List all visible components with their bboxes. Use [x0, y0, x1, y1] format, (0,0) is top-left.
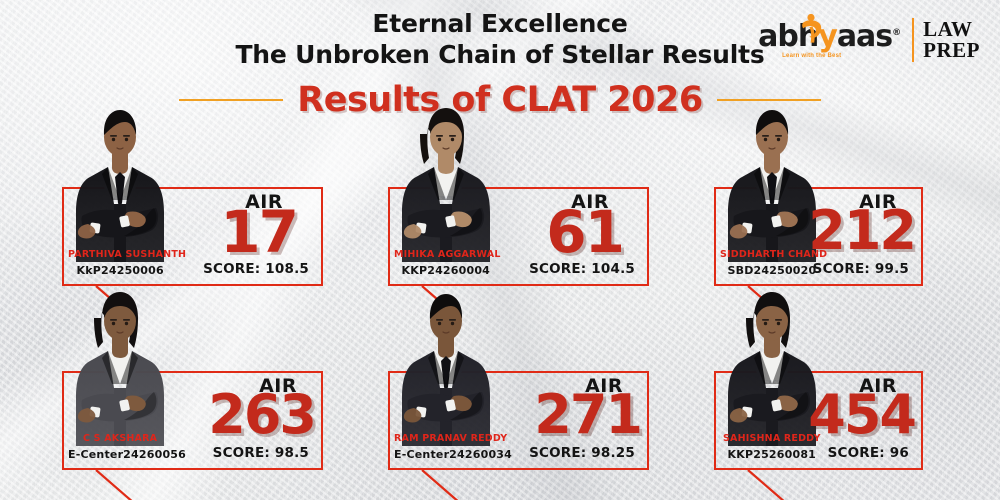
air-rank-value: 263: [208, 393, 315, 437]
student-name: MIHIKA AGGARWAL: [394, 249, 501, 260]
student-score: SCORE: 96: [828, 445, 909, 461]
student-score: SCORE: 104.5: [529, 261, 635, 277]
heading-line-1: Eternal Excellence: [0, 8, 1000, 39]
student-score: SCORE: 108.5: [203, 261, 309, 277]
result-card-tail-icon: [420, 286, 466, 322]
student-score: SCORE: 98.25: [529, 445, 635, 461]
air-rank-value: 271: [534, 393, 641, 437]
result-card-tail-icon: [746, 286, 792, 322]
student-id: KKP24260004: [402, 264, 491, 277]
title-rule-right: [717, 99, 821, 101]
page-title: Results of CLAT 2026: [297, 80, 702, 120]
air-rank-value: 61: [546, 209, 623, 257]
student-id: SBD24250020: [728, 264, 817, 277]
student-id: KKP25260081: [728, 448, 817, 461]
student-name: RAM PRANAV REDDY: [394, 433, 507, 444]
result-card[interactable]: AIR 61 MIHIKA AGGARWAL KKP24260004 SCORE…: [388, 187, 649, 286]
result-card[interactable]: AIR 454 SAHISHNA REDDY KKP25260081 SCORE…: [714, 371, 923, 470]
result-card[interactable]: AIR 17 PARTHIVA SUSHANTH KkP24250006 SCO…: [62, 187, 323, 286]
student-name: PARTHIVA SUSHANTH: [68, 249, 186, 260]
result-card-tail-icon: [94, 470, 140, 500]
student-name: SAHISHNA REDDY: [723, 433, 821, 444]
student-name: C S AKSHARA: [83, 433, 157, 444]
result-card[interactable]: AIR 271 RAM PRANAV REDDY E-Center2426003…: [388, 371, 649, 470]
student-score: SCORE: 99.5: [813, 261, 909, 277]
result-card-tail-icon: [94, 286, 140, 322]
result-card[interactable]: AIR 263 C S AKSHARA E-Center24260056 SCO…: [62, 371, 323, 470]
air-rank-value: 454: [808, 393, 915, 437]
result-card-tail-icon: [746, 470, 792, 500]
student-id: KkP24250006: [77, 264, 164, 277]
student-id: E-Center24260034: [394, 448, 512, 461]
student-id: E-Center24260056: [68, 448, 186, 461]
title-rule-left: [179, 99, 283, 101]
main-title-row: Results of CLAT 2026: [0, 80, 1000, 120]
result-card[interactable]: AIR 212 SIDDHARTH CHAND SBD24250020 SCOR…: [714, 187, 923, 286]
air-rank-value: 17: [220, 209, 297, 257]
heading-line-2: The Unbroken Chain of Stellar Results: [0, 39, 1000, 70]
air-rank-value: 212: [808, 209, 915, 253]
result-card-tail-icon: [420, 470, 466, 500]
student-name: SIDDHARTH CHAND: [720, 249, 827, 260]
student-score: SCORE: 98.5: [213, 445, 309, 461]
poster-heading-block: Eternal Excellence The Unbroken Chain of…: [0, 8, 1000, 70]
poster-content: abhyaas® Learn with the Best LAW PREP Et…: [0, 0, 1000, 500]
